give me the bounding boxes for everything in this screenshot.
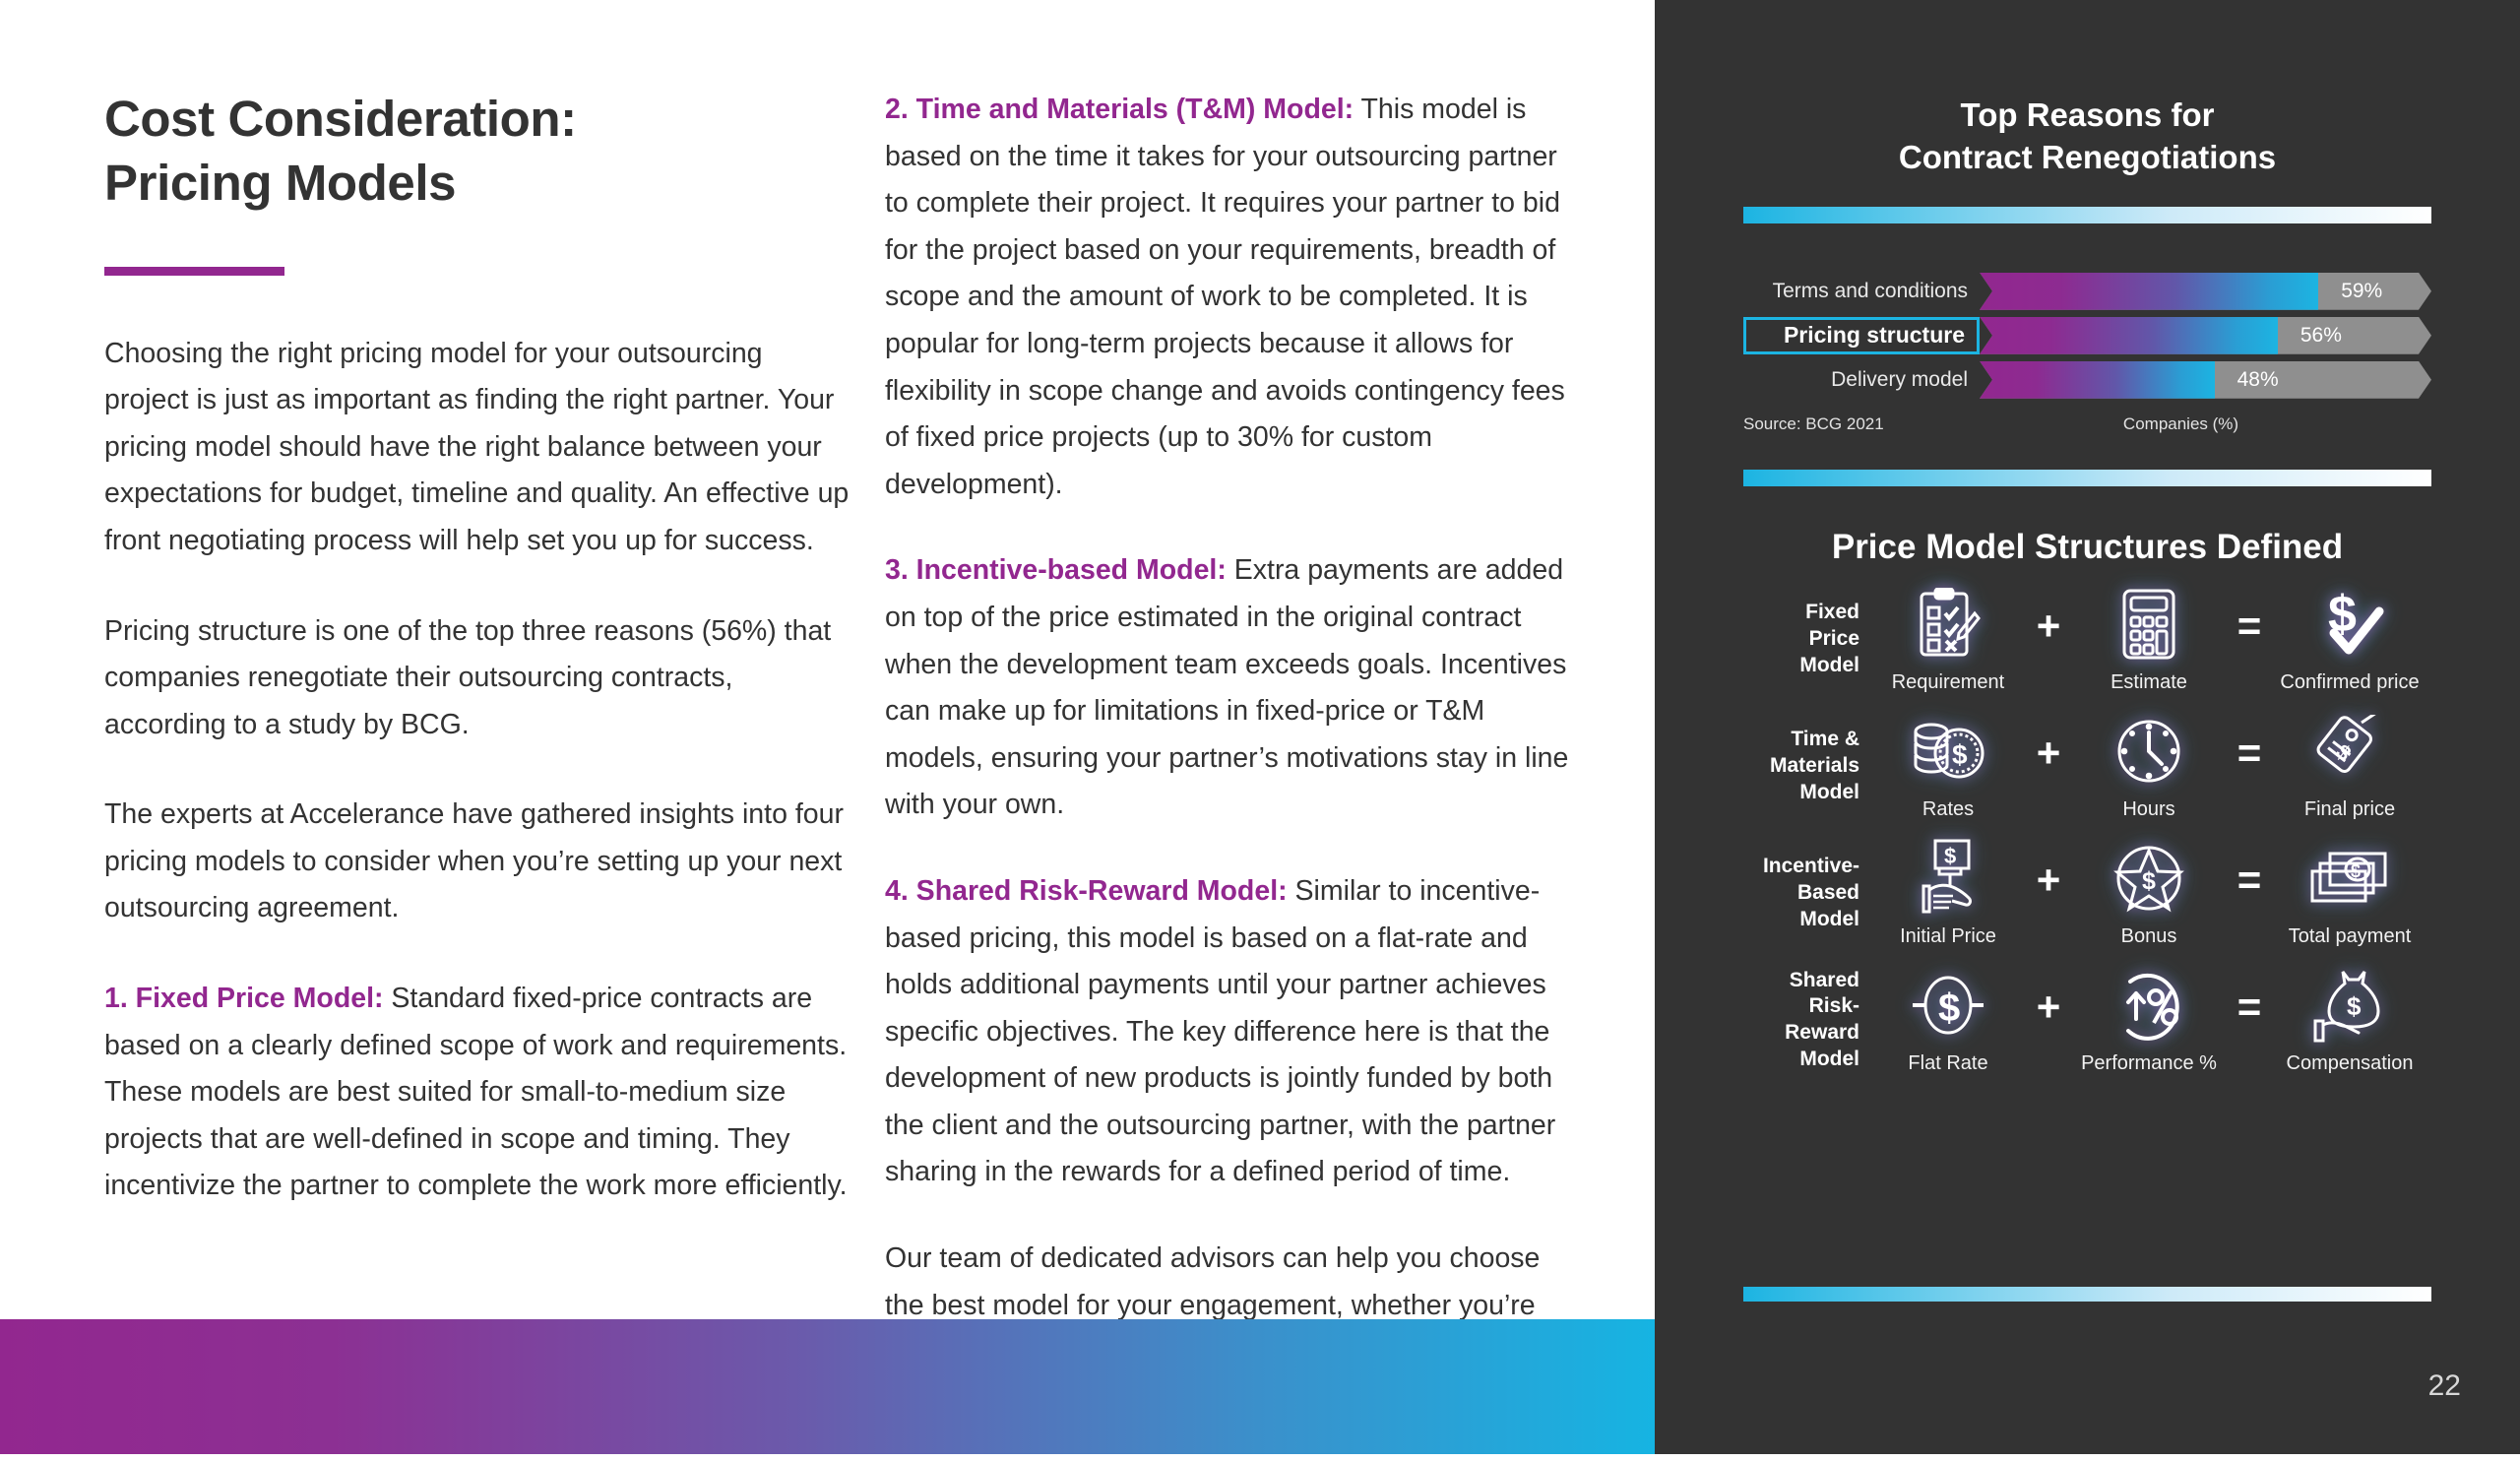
structure-cell: Requirement [1873, 585, 2023, 694]
text-columns: Cost Consideration: Pricing Models Choos… [0, 0, 1655, 1462]
bar-fill [1980, 317, 2278, 354]
content-pane: Cost Consideration: Pricing Models Choos… [0, 0, 1655, 1454]
coin-stack-icon: $ [1873, 712, 2023, 791]
svg-text:$: $ [2142, 867, 2156, 895]
operator-plus: + [2023, 986, 2074, 1053]
bar-track: 56% [1980, 317, 2431, 354]
structure-row-name: Fixed Price Model [1743, 600, 1873, 679]
operator-equals: = [2224, 986, 2275, 1053]
structure-cell-caption: Bonus [2074, 925, 2224, 948]
structure-row-cells: $ Flat Rate + [1873, 966, 2431, 1075]
structure-cell: $ Bonus [2074, 839, 2224, 948]
section-divider-rule [1743, 470, 2431, 486]
structure-cell: $ Final price [2275, 712, 2425, 821]
operator-equals: = [2224, 732, 2275, 799]
structure-cell-caption: Compensation [2275, 1052, 2425, 1075]
bar-row: Terms and conditions 59% [1743, 273, 2431, 310]
operator-plus: + [2023, 859, 2074, 926]
structure-row-name: Time & Materials Model [1743, 727, 1873, 806]
svg-text:$: $ [1944, 844, 1956, 868]
svg-text:$: $ [2347, 991, 2362, 1021]
money-bag-hand-icon: $ [2275, 966, 2425, 1045]
bar-label: Delivery model [1743, 368, 1980, 392]
structure-cell-caption: Final price [2275, 798, 2425, 821]
svg-text:$: $ [1952, 739, 1968, 770]
structure-cell: Performance % [2074, 966, 2224, 1075]
bar-row: Pricing structure 56% [1743, 317, 2431, 354]
operator-equals: = [2224, 859, 2275, 926]
structure-row-incentive-based: Incentive- Based Model $ [1743, 839, 2431, 948]
paragraph-text: Standard fixed-price contracts are based… [104, 983, 848, 1201]
clock-icon [2074, 712, 2224, 791]
clipboard-checklist-icon [1873, 585, 2023, 664]
structure-cell: $ Total payment [2275, 839, 2425, 948]
bar-chart: Terms and conditions 59% Pricing structu… [1743, 273, 2431, 434]
sidebar-inner: Top Reasons for Contract Renegotiations … [1655, 0, 2520, 1075]
bar-fill [1980, 273, 2318, 310]
hand-holding-dollar-sign-icon: $ [1873, 839, 2023, 918]
star-dollar-icon: $ [2074, 839, 2224, 918]
paragraph-text: Choosing the right pricing model for you… [104, 338, 849, 556]
structure-row-shared-risk-reward: Shared Risk- Reward Model $ [1743, 966, 2431, 1075]
column-left: Cost Consideration: Pricing Models Choos… [104, 87, 852, 1462]
dollar-coin-icon: $ [1873, 966, 2023, 1045]
chart-title-rule [1743, 207, 2431, 223]
page-title: Cost Consideration: Pricing Models [104, 87, 852, 216]
paragraph-model-1: 1. Fixed Price Model: Standard fixed-pri… [104, 976, 852, 1210]
structure-cell-caption: Confirmed price [2275, 671, 2425, 694]
bar-track: 48% [1980, 361, 2431, 399]
paragraph-text: Pricing structure is one of the top thre… [104, 615, 831, 740]
structure-cell: Estimate [2074, 585, 2224, 694]
structure-row-name: Shared Risk- Reward Model [1743, 968, 1873, 1074]
structure-row-cells: $ Rates + [1873, 712, 2431, 821]
paragraph-text: Extra payments are added on top of the p… [885, 554, 1568, 820]
price-model-structures: Fixed Price Model [1743, 585, 2431, 1075]
structure-row-fixed-price: Fixed Price Model [1743, 585, 2431, 694]
column-middle: 2. Time and Materials (T&M) Model: This … [885, 87, 1574, 1462]
operator-equals: = [2224, 605, 2275, 672]
chart-footer: Source: BCG 2021 Companies (%) [1743, 414, 2431, 434]
structure-cell: $ Compensation [2275, 966, 2425, 1075]
svg-text:$: $ [1938, 986, 1960, 1030]
svg-text:$: $ [2351, 861, 2361, 881]
chart-source: Source: BCG 2021 [1743, 414, 1989, 434]
bar-label: Terms and conditions [1743, 280, 1980, 303]
structure-row-cells: Requirement + [1873, 585, 2431, 694]
paragraph-model-2: 2. Time and Materials (T&M) Model: This … [885, 87, 1574, 508]
paragraph-model-3: 3. Incentive-based Model: Extra payments… [885, 547, 1574, 829]
structures-title: Price Model Structures Defined [1743, 528, 2431, 567]
chart-x-axis-label: Companies (%) [1989, 414, 2431, 434]
paragraph-text: The experts at Accelerance have gathered… [104, 798, 844, 923]
paragraph-text: Similar to incentive-based pricing, this… [885, 875, 1555, 1188]
structure-row-name: Incentive- Based Model [1743, 854, 1873, 933]
bar-label-highlighted: Pricing structure [1743, 317, 1980, 354]
structure-cell-caption: Performance % [2074, 1052, 2224, 1075]
paragraph-text: This model is based on the time it takes… [885, 94, 1565, 500]
structure-cell-caption: Requirement [1873, 671, 2023, 694]
paragraph-model-4: 4. Shared Risk-Reward Model: Similar to … [885, 868, 1574, 1196]
paragraph-lead: 4. Shared Risk-Reward Model: [885, 875, 1288, 907]
operator-plus: + [2023, 605, 2074, 672]
structure-cell: $ Confirmed price [2275, 585, 2425, 694]
structure-cell: Hours [2074, 712, 2224, 821]
bar-track: 59% [1980, 273, 2431, 310]
structure-cell-caption: Hours [2074, 798, 2224, 821]
footer-gradient-bar [0, 1319, 1655, 1454]
paragraph-accelerance: The experts at Accelerance have gathered… [104, 792, 852, 932]
structure-cell: $ Initial Price [1873, 839, 2023, 948]
banknotes-icon: $ [2275, 839, 2425, 918]
paragraph-lead: 2. Time and Materials (T&M) Model: [885, 94, 1354, 125]
percent-arrow-icon [2074, 966, 2224, 1045]
sidebar-graphics-pane: Top Reasons for Contract Renegotiations … [1655, 0, 2520, 1454]
structure-row-cells: $ Initial Price + [1873, 839, 2431, 948]
bar-value: 56% [2300, 317, 2342, 354]
paragraph-stat: Pricing structure is one of the top thre… [104, 608, 852, 749]
structure-cell-caption: Rates [1873, 798, 2023, 821]
structure-cell: $ Rates [1873, 712, 2023, 821]
structure-cell-caption: Initial Price [1873, 925, 2023, 948]
bar-fill [1980, 361, 2215, 399]
paragraph-lead: 1. Fixed Price Model: [104, 983, 384, 1014]
structure-cell-caption: Flat Rate [1873, 1052, 2023, 1075]
chart-title: Top Reasons for Contract Renegotiations [1743, 0, 2431, 179]
structure-row-time-materials: Time & Materials Model [1743, 712, 2431, 821]
structure-cell-caption: Total payment [2275, 925, 2425, 948]
paragraph-lead: 3. Incentive-based Model: [885, 554, 1227, 586]
slide-root: Cost Consideration: Pricing Models Choos… [0, 0, 2520, 1454]
calculator-icon [2074, 585, 2224, 664]
operator-plus: + [2023, 732, 2074, 799]
title-underline-rule [104, 267, 284, 276]
bar-value: 48% [2237, 361, 2279, 399]
paragraph-intro: Choosing the right pricing model for you… [104, 331, 852, 565]
price-tag-icon: $ [2275, 712, 2425, 791]
structure-cell-caption: Estimate [2074, 671, 2224, 694]
bar-row: Delivery model 48% [1743, 361, 2431, 399]
bar-value: 59% [2341, 273, 2382, 310]
bottom-gradient-rule [1743, 1287, 2431, 1302]
page-number: 22 [2428, 1369, 2461, 1403]
dollar-checkmark-icon: $ [2275, 585, 2425, 664]
structure-cell: $ Flat Rate [1873, 966, 2023, 1075]
